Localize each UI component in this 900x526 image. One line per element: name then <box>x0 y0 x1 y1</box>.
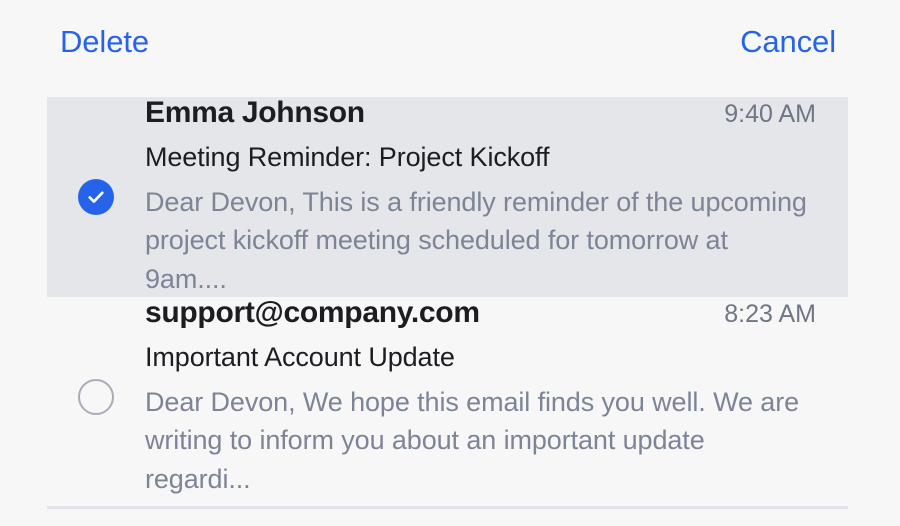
email-timestamp: 9:40 AM <box>724 100 816 129</box>
email-content: Emma Johnson 9:40 AM Meeting Reminder: P… <box>145 96 848 298</box>
email-header-line: Emma Johnson 9:40 AM <box>145 96 816 130</box>
email-content: support@company.com 8:23 AM Important Ac… <box>145 296 848 498</box>
checkmark-icon <box>86 187 106 207</box>
cancel-button[interactable]: Cancel <box>740 26 836 57</box>
email-list-item[interactable]: Emma Johnson 9:40 AM Meeting Reminder: P… <box>47 97 848 297</box>
email-preview: Dear Devon, We hope this email finds you… <box>145 383 816 498</box>
email-preview: Dear Devon, This is a friendly reminder … <box>145 183 816 298</box>
email-sender: support@company.com <box>145 296 480 330</box>
email-subject: Meeting Reminder: Project Kickoff <box>145 142 816 173</box>
email-list-item[interactable]: support@company.com 8:23 AM Important Ac… <box>47 297 848 497</box>
select-email-toggle[interactable] <box>47 379 145 415</box>
email-header-line: support@company.com 8:23 AM <box>145 296 816 330</box>
selection-action-bar: Delete Cancel <box>0 0 900 82</box>
email-timestamp: 8:23 AM <box>724 300 816 329</box>
list-divider <box>47 506 848 509</box>
email-list: Emma Johnson 9:40 AM Meeting Reminder: P… <box>0 97 900 497</box>
select-email-toggle[interactable] <box>47 179 145 215</box>
check-circle-filled-icon[interactable] <box>78 179 114 215</box>
delete-button[interactable]: Delete <box>60 26 149 57</box>
email-sender: Emma Johnson <box>145 96 365 130</box>
circle-outline-icon[interactable] <box>78 379 114 415</box>
email-subject: Important Account Update <box>145 342 816 373</box>
